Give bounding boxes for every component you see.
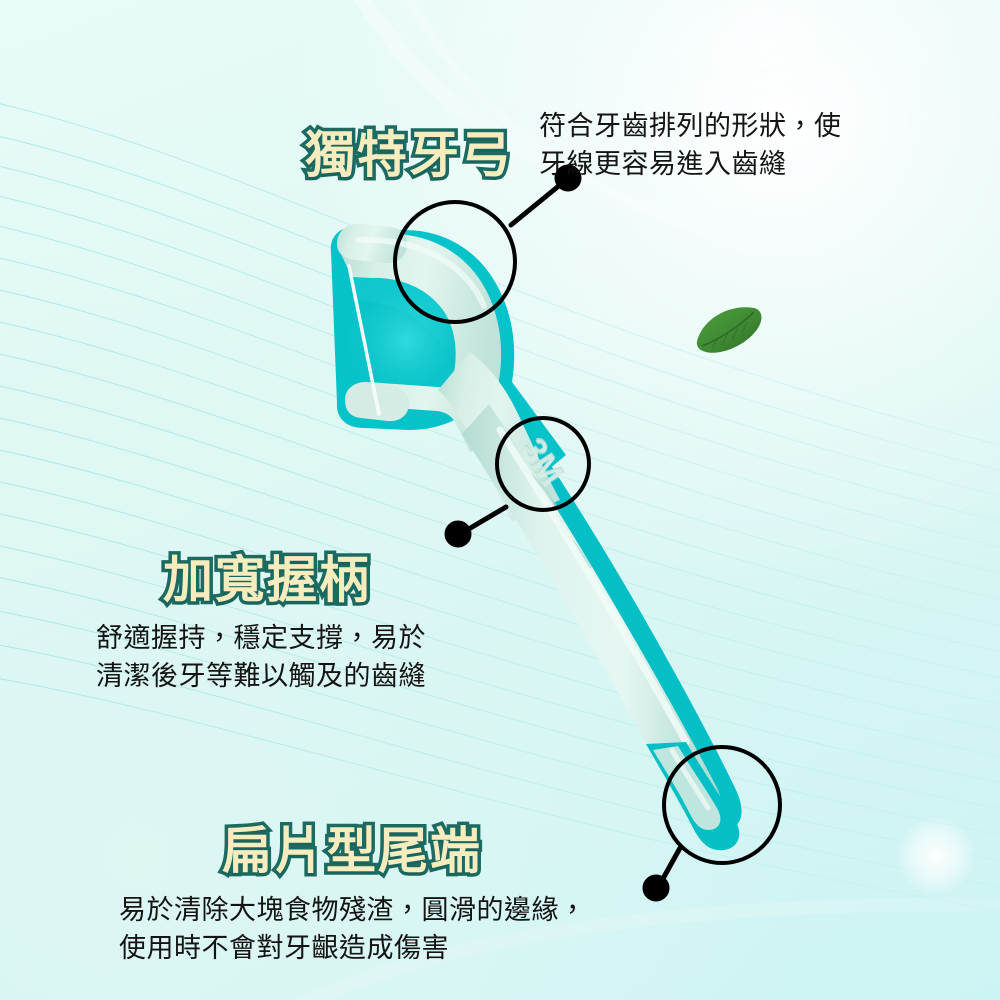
feature-heading-wide-handle: 加寬握柄 — [163, 555, 371, 605]
feature-body-wide-handle: 舒適握持，穩定支撐，易於 清潔後牙等難以觸及的齒縫 — [96, 619, 526, 696]
feature-heading-flat-tail: 扁片型尾端 — [222, 826, 482, 876]
mint-leaf-icon — [692, 300, 770, 362]
callout-circle-tail — [662, 745, 782, 865]
callout-circle-handle — [495, 416, 591, 512]
feature-heading-unique-arch: 獨特牙弓 — [305, 130, 513, 180]
feature-body-unique-arch: 符合牙齒排列的形狀，使 牙線更容易進入齒縫 — [539, 107, 939, 184]
callout-circle-arch — [393, 200, 517, 324]
feature-body-flat-tail: 易於清除大塊食物殘渣，圓滑的邊緣， 使用時不會對牙齦造成傷害 — [119, 891, 679, 968]
infographic-canvas: 3M 3M — [0, 0, 1000, 1000]
